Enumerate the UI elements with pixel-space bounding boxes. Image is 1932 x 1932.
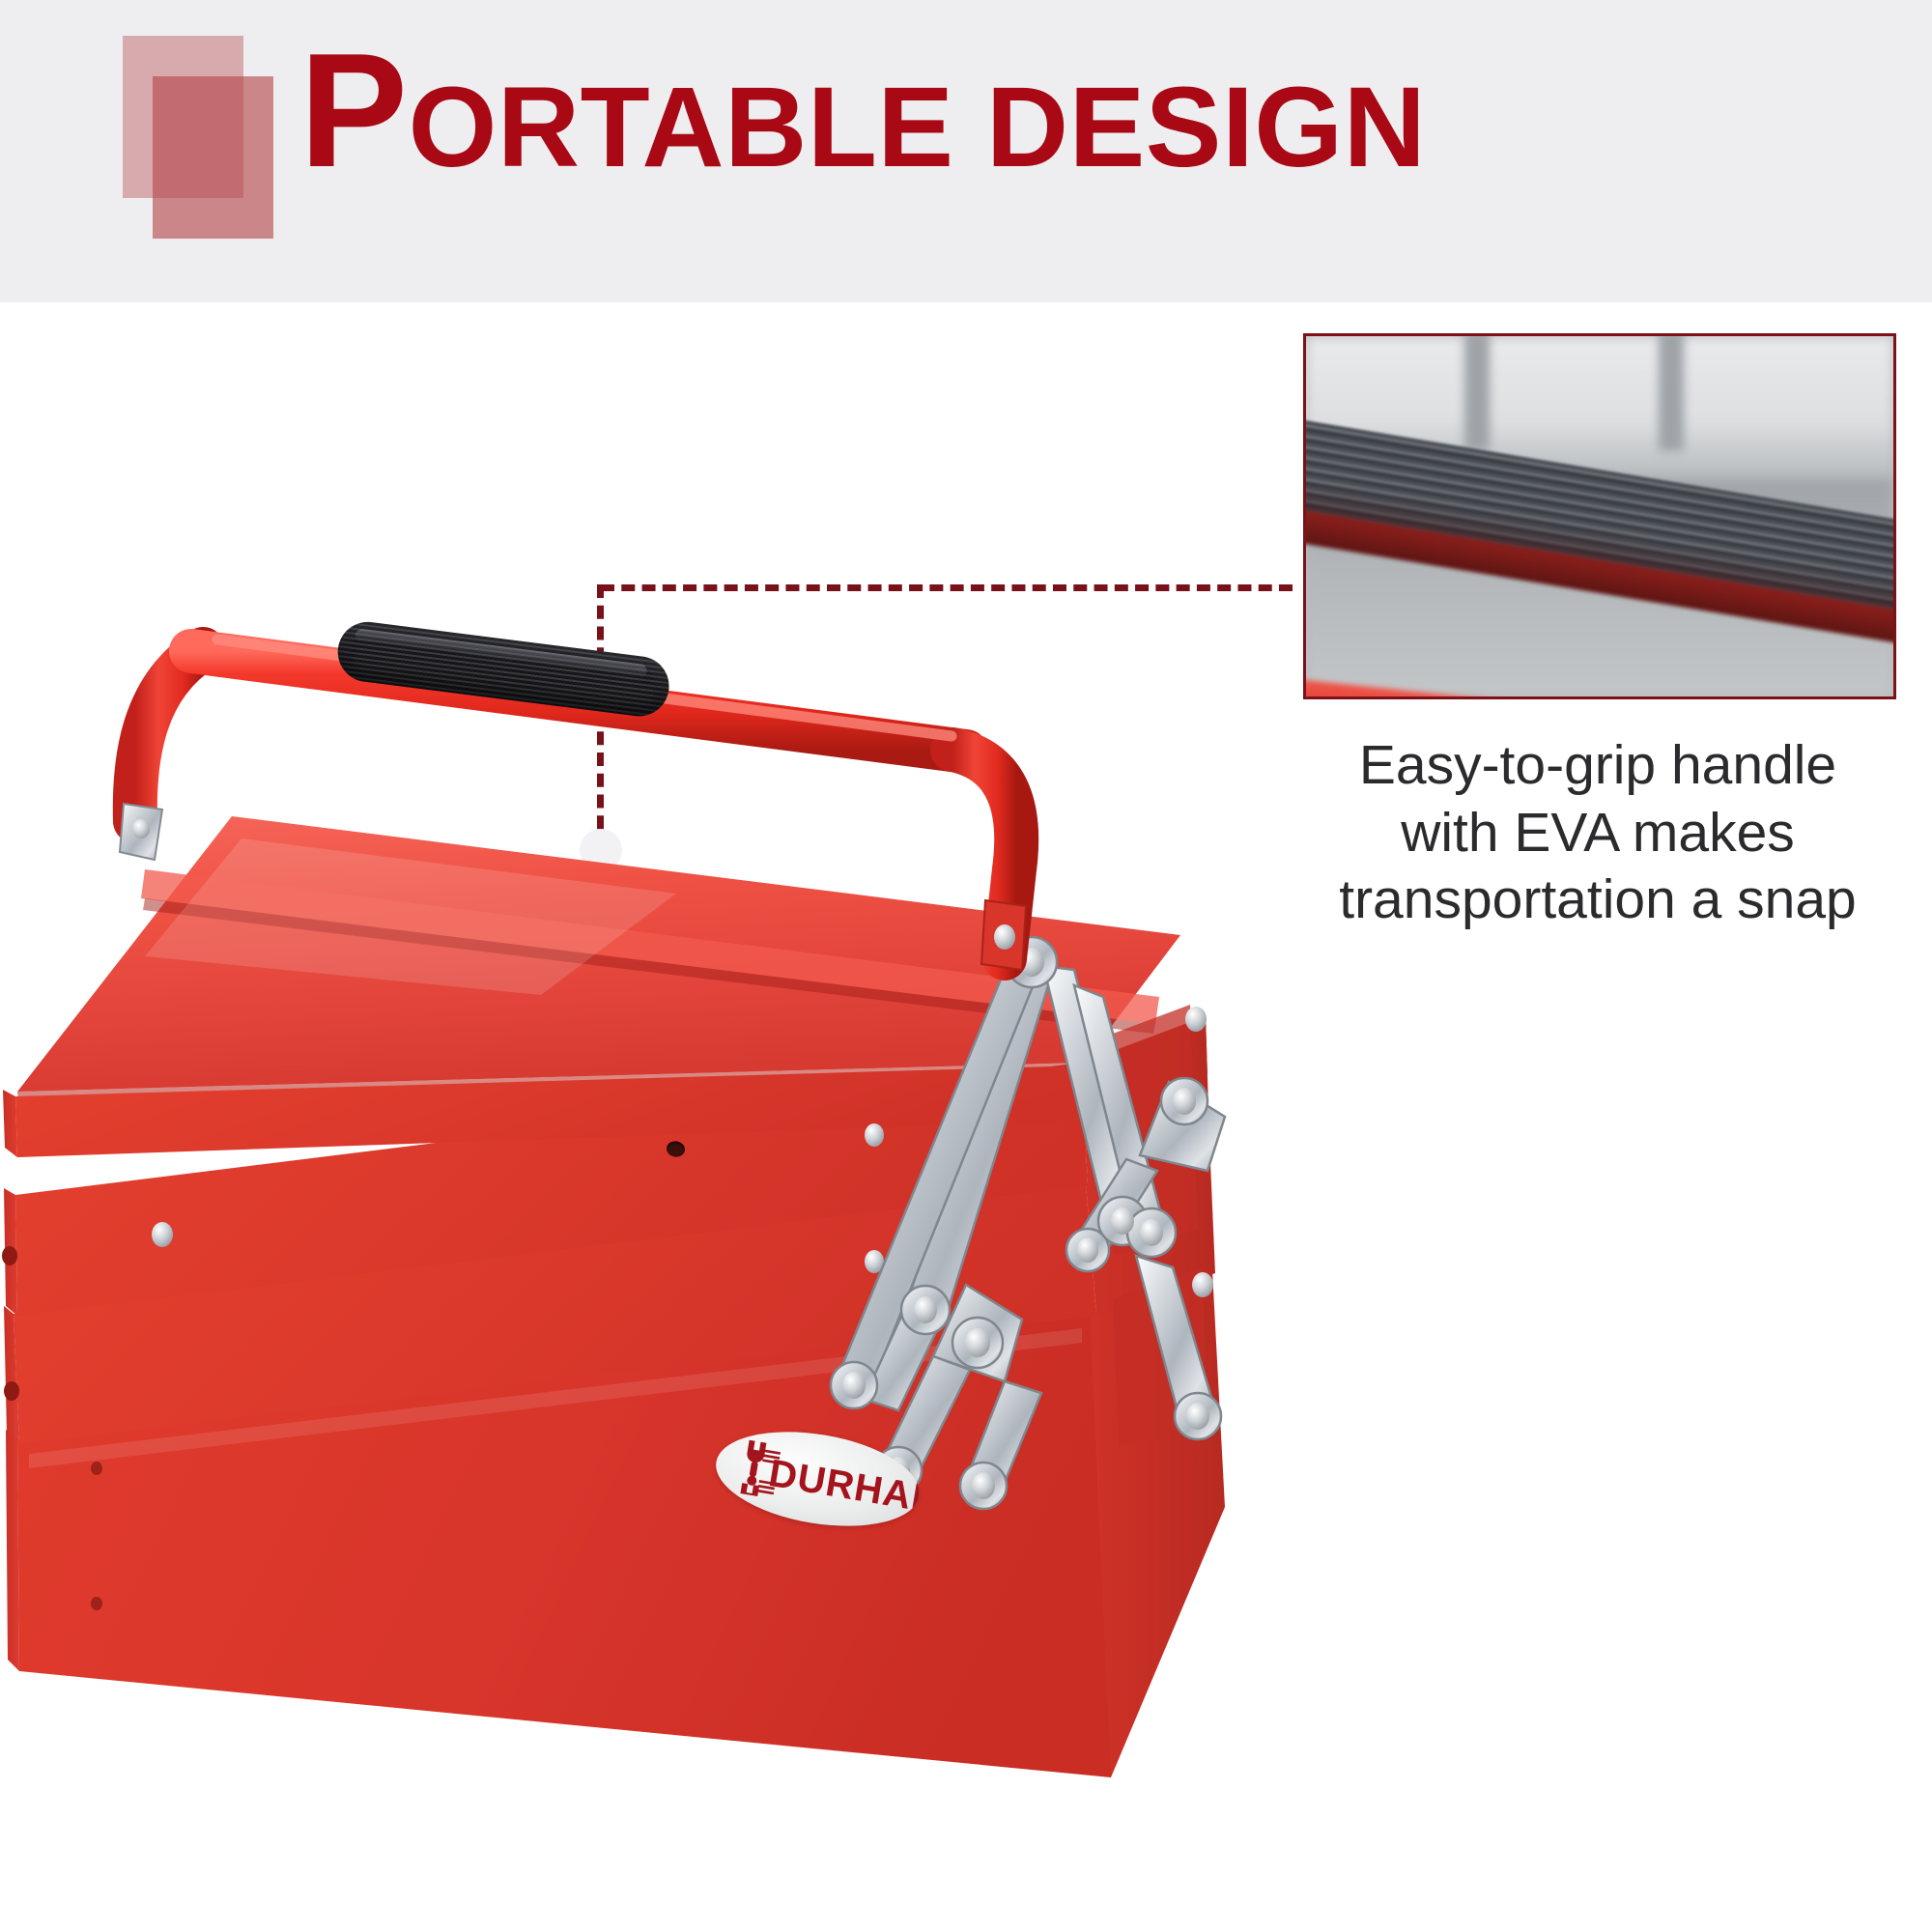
carry-handle: [0, 580, 1449, 1932]
photo-background-post: [1464, 333, 1490, 451]
product-feature-graphic: PORTABLE DESIGN Easy-to-grip handle with…: [0, 0, 1932, 1932]
photo-background-post: [1659, 333, 1684, 451]
handle-left-upright: [135, 649, 203, 821]
decorative-rectangle-front: [153, 76, 273, 239]
page-title-initial: P: [299, 19, 409, 201]
product-image-toolbox: DURHAND: [0, 580, 1449, 1932]
page-title-rest: ORTABLE DESIGN: [409, 64, 1427, 191]
rivet: [994, 924, 1015, 950]
page-title: PORTABLE DESIGN: [299, 29, 1426, 191]
rivet: [132, 819, 150, 838]
